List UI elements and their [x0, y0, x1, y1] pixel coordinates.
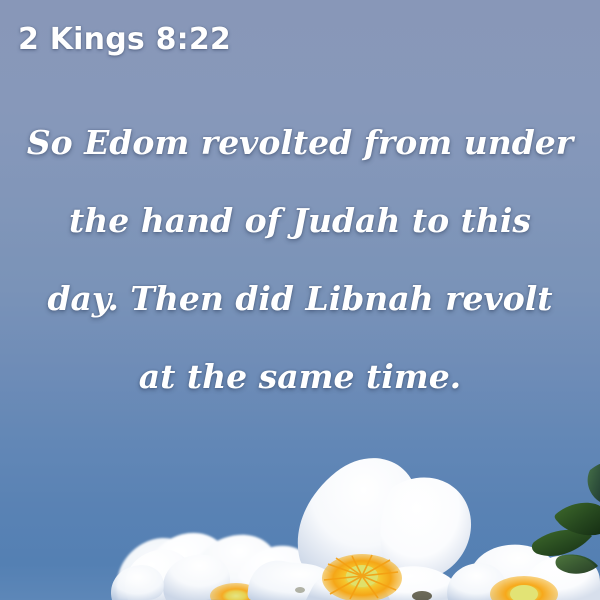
- verse-line: at the same time.: [22, 338, 578, 416]
- verse-line: the hand of Judah to this: [22, 182, 578, 260]
- stamen-left: [210, 583, 262, 600]
- flower-illustration: [0, 410, 600, 600]
- flower-speck: [412, 591, 432, 600]
- flower-right: [447, 545, 600, 600]
- flower-left-back: [116, 533, 314, 600]
- verse-text: So Edom revolted from under the hand of …: [22, 104, 578, 416]
- flower-center: [248, 458, 471, 600]
- scripture-reference: 2 Kings 8:22: [18, 22, 231, 57]
- flower-photo-layer: [0, 410, 600, 600]
- flower-speck: [295, 587, 305, 593]
- stamen-right: [490, 576, 558, 600]
- flower-left-front: [111, 549, 230, 600]
- verse-line: day. Then did Libnah revolt: [22, 260, 578, 338]
- verse-line: So Edom revolted from under: [22, 104, 578, 182]
- leaf-cluster: [532, 464, 600, 574]
- verse-image-canvas: 2 Kings 8:22 So Edom revolted from under…: [0, 0, 600, 600]
- stamen-center: [322, 554, 402, 600]
